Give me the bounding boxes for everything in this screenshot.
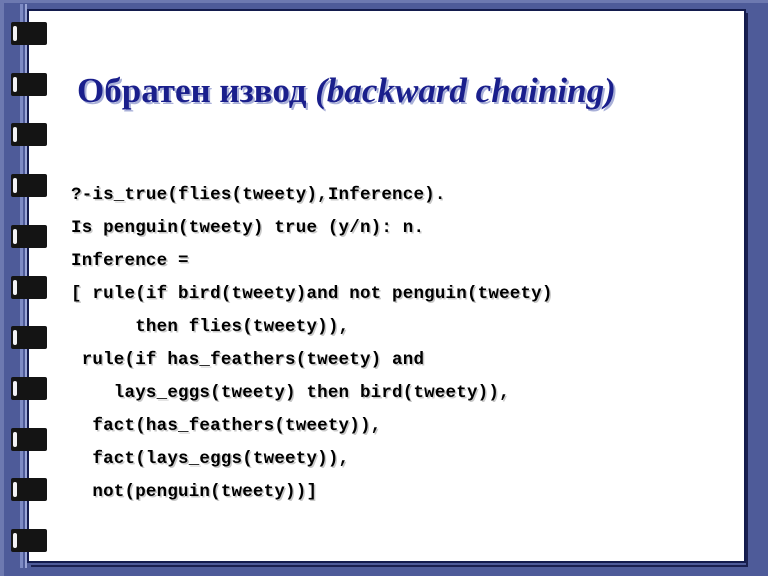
code-line: not(penguin(tweety))]: [71, 476, 768, 509]
binder-ring: [11, 478, 47, 501]
binder-ring: [11, 123, 47, 146]
binder-ring: [11, 225, 47, 248]
page-title: Обратен извод (backward chaining): [77, 69, 767, 113]
page-title-english: (backward chaining): [315, 71, 615, 110]
frame-top-highlight: [0, 0, 768, 3]
binder-ring: [11, 529, 47, 552]
page-bottom-shadow: [31, 565, 748, 567]
code-line: ?-is_true(flies(tweety),Inference).: [71, 179, 768, 212]
code-line: [ rule(if bird(tweety)and not penguin(tw…: [71, 278, 768, 311]
code-listing: ?-is_true(flies(tweety),Inference). Is p…: [71, 179, 768, 509]
slide-page: Обратен извод (backward chaining) ?-is_t…: [27, 9, 746, 563]
code-line: fact(lays_eggs(tweety)),: [71, 443, 768, 476]
code-line: then flies(tweety)),: [71, 311, 768, 344]
binder-ring: [11, 428, 47, 451]
binder-ring: [11, 174, 47, 197]
page-title-cyrillic: Обратен извод: [77, 71, 315, 110]
code-line: fact(has_feathers(tweety)),: [71, 410, 768, 443]
binder-ring: [11, 73, 47, 96]
binder-rings: [0, 0, 60, 576]
binder-ring: [11, 326, 47, 349]
code-line: lays_eggs(tweety) then bird(tweety)),: [71, 377, 768, 410]
code-line: Inference =: [71, 245, 768, 278]
binder-ring: [11, 22, 47, 45]
presentation-slide: Обратен извод (backward chaining) ?-is_t…: [0, 0, 768, 576]
code-line: Is penguin(tweety) true (y/n): n.: [71, 212, 768, 245]
code-line: rule(if has_feathers(tweety) and: [71, 344, 768, 377]
binder-ring: [11, 377, 47, 400]
binder-ring: [11, 276, 47, 299]
